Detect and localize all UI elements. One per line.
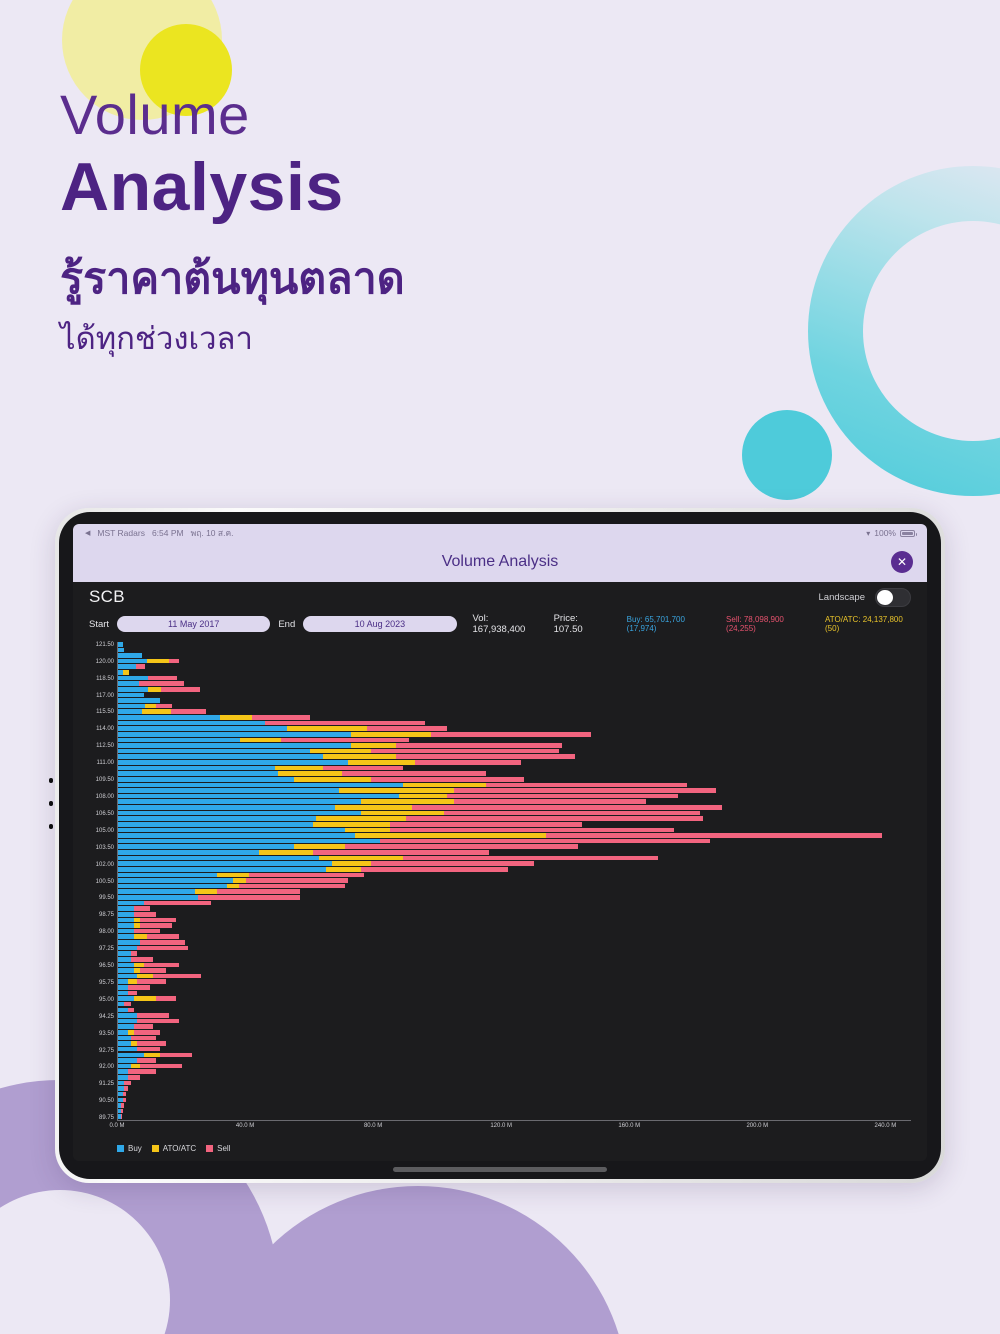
volume-bar-segment-buy (118, 1064, 131, 1069)
volume-bar-segment-sell (137, 1058, 156, 1063)
volume-bar-row (118, 721, 425, 726)
ios-status-bar: ◀ MST Radars 6:54 PM พฤ. 10 ส.ค. ▾ 100% (73, 524, 927, 542)
volume-bar-segment-sell (140, 923, 172, 928)
volume-bar-row (118, 895, 300, 900)
buy-stat: Buy: 65,701,700 (17,974) (627, 615, 709, 633)
volume-bar-segment-ato (361, 799, 454, 804)
volume-bar-row (118, 653, 142, 658)
volume-bar-segment-buy (118, 1036, 131, 1041)
volume-bar-segment-buy (118, 1013, 137, 1018)
chart-legend: BuyATO/ATCSell (73, 1135, 927, 1161)
teal-dot-decoration (742, 410, 832, 500)
volume-bar-segment-buy (118, 878, 233, 883)
volume-bar-row (118, 816, 703, 821)
volume-bar-segment-buy (118, 991, 128, 996)
volume-bar-segment-ato (361, 811, 444, 816)
volume-bar-segment-sell (171, 709, 206, 714)
volume-bar-segment-sell (156, 996, 175, 1001)
y-axis-tick-label: 100.50 (96, 879, 114, 885)
volume-bar-row (118, 777, 524, 782)
volume-bar-segment-ato (131, 1064, 141, 1069)
volume-bar-row (118, 687, 200, 692)
volume-bar-segment-ato (316, 816, 406, 821)
volume-bar-row (118, 918, 176, 923)
volume-bar-segment-sell (121, 1103, 124, 1108)
volume-bar-row (118, 839, 710, 844)
volume-bar-row (118, 698, 160, 703)
volume-bar-segment-ato (403, 783, 486, 788)
volume-bar-segment-sell (137, 946, 188, 951)
x-axis-tick-label: 200.0 M (746, 1123, 768, 1129)
y-axis-tick-label: 89.75 (99, 1115, 114, 1121)
landscape-toggle[interactable] (875, 588, 911, 607)
volume-bar-segment-ato (148, 687, 161, 692)
volume-bar-segment-sell (367, 726, 447, 731)
y-axis-tick-label: 118.50 (96, 676, 114, 682)
volume-bar-row (118, 1013, 169, 1018)
volume-bar-segment-sell (137, 979, 166, 984)
x-axis-tick-label: 160.0 M (618, 1123, 640, 1129)
volume-bar-segment-buy (118, 664, 136, 669)
volume-bar-segment-ato (351, 732, 431, 737)
volume-bar-segment-ato (220, 715, 252, 720)
volume-bar-segment-sell (246, 878, 348, 883)
legend-item: Buy (117, 1144, 142, 1153)
volume-bar-segment-buy (118, 816, 316, 821)
volume-bar-segment-ato (259, 850, 313, 855)
volume-bar-segment-sell (124, 1002, 130, 1007)
volume-bar-row (118, 873, 364, 878)
volume-bar-segment-sell (403, 856, 659, 861)
y-axis-tick-label: 106.50 (96, 811, 114, 817)
volume-bar-row (118, 1092, 126, 1097)
battery-icon (900, 530, 915, 537)
volume-bar-segment-sell (252, 715, 310, 720)
volume-bar-segment-buy (118, 940, 140, 945)
volume-bar-segment-ato (137, 974, 153, 979)
volume-bar-row (118, 991, 137, 996)
volume-bar-row (118, 693, 144, 698)
volume-bar-segment-sell (454, 788, 716, 793)
volume-bar-segment-buy (118, 1024, 134, 1029)
volume-bar-segment-ato (326, 867, 361, 872)
volume-bar-segment-buy (118, 934, 134, 939)
volume-bar-row (118, 867, 508, 872)
volume-bar-row (118, 996, 176, 1001)
chart-y-axis: 121.50120.00118.50117.00115.50114.00112.… (83, 642, 117, 1121)
x-axis-tick-label: 40.0 M (236, 1123, 254, 1129)
headline-line-analysis: Analysis (60, 149, 405, 225)
volume-bar-segment-sell (131, 1036, 157, 1041)
volume-bar-row (118, 884, 345, 889)
y-axis-tick-label: 95.75 (99, 980, 114, 986)
volume-bar-row (118, 738, 409, 743)
legend-label: Sell (217, 1144, 230, 1153)
teal-ring-decoration (808, 166, 1000, 496)
volume-bar-segment-sell (121, 1114, 123, 1119)
legend-swatch-icon (206, 1145, 213, 1152)
device-bezel: ◀ MST Radars 6:54 PM พฤ. 10 ส.ค. ▾ 100% … (59, 512, 941, 1179)
volume-bar-segment-sell (396, 743, 562, 748)
volume-bar-segment-buy (118, 951, 131, 956)
volume-bar-row (118, 1053, 192, 1058)
volume-bar-segment-ato (134, 963, 144, 968)
volume-bar-row (118, 1047, 160, 1052)
legend-item: Sell (206, 1144, 230, 1153)
total-volume-stat: Vol: 167,938,400 (473, 613, 538, 635)
y-axis-tick-label: 114.00 (96, 726, 114, 732)
volume-bar-row (118, 1041, 166, 1046)
y-axis-tick-label: 103.50 (96, 845, 114, 851)
sell-stat: Sell: 78,098,900 (24,255) (726, 615, 808, 633)
volume-bar-segment-sell (124, 1081, 130, 1086)
volume-bar-segment-sell (140, 918, 175, 923)
volume-bar-row (118, 749, 559, 754)
volume-bar-segment-buy (118, 760, 348, 765)
volume-bar-segment-buy (118, 788, 339, 793)
volume-bar-row (118, 1064, 182, 1069)
start-date-input[interactable]: 11 May 2017 (117, 616, 270, 632)
status-date: พฤ. 10 ส.ค. (191, 526, 234, 540)
volume-bar-segment-ato (144, 1053, 160, 1058)
volume-bar-segment-buy (118, 974, 137, 979)
stock-symbol-label: SCB (89, 587, 125, 607)
volume-bar-segment-ato (319, 856, 402, 861)
volume-bar-segment-buy (118, 1041, 131, 1046)
volume-bar-row (118, 799, 646, 804)
volume-bar-row (118, 1008, 134, 1013)
volume-bar-row (118, 1030, 160, 1035)
volume-bar-row (118, 1058, 156, 1063)
y-axis-tick-label: 98.00 (99, 929, 114, 935)
headline-block: Volume Analysis รู้ราคาต้นทุนตลาด ได้ทุก… (60, 86, 405, 359)
volume-bar-segment-sell (137, 1019, 179, 1024)
volume-bar-segment-sell (148, 676, 177, 681)
volume-bar-segment-sell (121, 1109, 123, 1114)
status-time: 6:54 PM (152, 528, 184, 538)
volume-bar-segment-buy (118, 1069, 128, 1074)
volume-bar-segment-sell (431, 732, 591, 737)
volume-bar-segment-buy (118, 687, 148, 692)
end-date-input[interactable]: 10 Aug 2023 (303, 616, 456, 632)
volume-bar-segment-sell (454, 799, 646, 804)
volume-bar-segment-sell (444, 811, 700, 816)
volume-bar-segment-buy (118, 1019, 137, 1024)
volume-bar-segment-ato (233, 878, 246, 883)
volume-bar-segment-sell (380, 839, 709, 844)
volume-bar-segment-buy (118, 749, 310, 754)
volume-bar-row (118, 642, 123, 647)
volume-bar-row (118, 1114, 122, 1119)
volume-bar-segment-ato (294, 844, 345, 849)
volume-bar-segment-buy (118, 968, 134, 973)
volume-bar-segment-sell (406, 816, 703, 821)
device-side-buttons (49, 778, 53, 847)
y-axis-tick-label: 99.50 (99, 895, 114, 901)
volume-bar-segment-sell (390, 828, 675, 833)
modal-title-bar: Volume Analysis ✕ (73, 542, 927, 582)
volume-bar-row (118, 923, 172, 928)
volume-bar-segment-buy (118, 783, 403, 788)
volume-bar-segment-ato (128, 979, 138, 984)
volume-bar-row (118, 743, 562, 748)
chart-plot-area (117, 642, 911, 1121)
volume-bar-segment-sell (134, 929, 160, 934)
volume-bar-segment-buy (118, 704, 145, 709)
y-axis-tick-label: 121.50 (96, 642, 114, 648)
volume-bar-row (118, 783, 687, 788)
volume-bar-row (118, 1109, 123, 1114)
volume-bar-row (118, 968, 166, 973)
page-title: Volume Analysis (442, 553, 559, 571)
volume-bar-segment-sell (137, 1041, 166, 1046)
legend-label: Buy (128, 1144, 142, 1153)
home-indicator[interactable] (393, 1167, 607, 1172)
volume-bar-row (118, 1002, 131, 1007)
volume-bar-segment-buy (118, 957, 131, 962)
volume-bar-segment-sell (313, 850, 489, 855)
volume-bar-segment-sell (123, 1092, 126, 1097)
volume-bar-segment-sell (128, 1075, 141, 1080)
volume-bar-segment-sell (144, 963, 179, 968)
volume-bar-segment-buy (118, 681, 139, 686)
volume-bar-row (118, 1069, 156, 1074)
volume-bar-row (118, 929, 160, 934)
volume-bar-row (118, 912, 156, 917)
volume-bar-segment-sell (134, 1024, 153, 1029)
volume-bar-row (118, 1024, 153, 1029)
volume-bar-segment-sell (415, 760, 521, 765)
volume-bar-row (118, 766, 403, 771)
volume-bar-segment-ato (134, 996, 156, 1001)
volume-bar-row (118, 670, 129, 675)
headline-line-volume: Volume (60, 86, 405, 145)
volume-bar-segment-sell (371, 861, 534, 866)
x-axis-tick-label: 80.0 M (364, 1123, 382, 1129)
volume-bar-segment-buy (118, 867, 326, 872)
volume-bar-segment-sell (361, 867, 508, 872)
y-axis-tick-label: 94.25 (99, 1014, 114, 1020)
volume-bar-row (118, 856, 658, 861)
y-axis-tick-label: 96.50 (99, 963, 114, 969)
volume-bar-segment-ato (310, 749, 371, 754)
purple-circle-decoration (208, 1186, 628, 1334)
volume-bar-segment-sell (140, 968, 166, 973)
volume-bar-segment-buy (118, 884, 227, 889)
volume-bar-segment-buy (118, 861, 332, 866)
x-axis-tick-label: 240.0 M (875, 1123, 897, 1129)
volume-bar-segment-ato (134, 934, 147, 939)
volume-bar-row (118, 811, 700, 816)
volume-bar-segment-buy (118, 777, 294, 782)
volume-bar-row (118, 833, 882, 838)
volume-bar-segment-sell (371, 749, 560, 754)
y-axis-tick-label: 111.00 (97, 760, 114, 766)
volume-bar-row (118, 1081, 131, 1086)
volume-bar-segment-ato (147, 659, 169, 664)
volume-bar-segment-sell (169, 659, 179, 664)
controls-row: Start 11 May 2017 End 10 Aug 2023 Vol: 1… (73, 612, 927, 636)
volume-bar-row (118, 1075, 140, 1080)
volume-bar-row (118, 794, 678, 799)
ato-atc-stat: ATO/ATC: 24,137,800 (50) (825, 615, 911, 633)
volume-bar-segment-buy (118, 738, 240, 743)
y-axis-tick-label: 92.00 (99, 1064, 114, 1070)
volume-bar-segment-buy (118, 676, 148, 681)
volume-bar-segment-ato (240, 738, 282, 743)
volume-bar-segment-buy (118, 1047, 137, 1052)
volume-bar-segment-sell (390, 822, 582, 827)
volume-bar-segment-buy (118, 799, 361, 804)
volume-bar-segment-ato (339, 788, 454, 793)
volume-bar-segment-ato (287, 726, 367, 731)
volume-bar-segment-buy (118, 771, 278, 776)
volume-bar-segment-buy (118, 844, 294, 849)
y-axis-tick-label: 117.00 (96, 693, 114, 699)
volume-bar-segment-sell (134, 906, 150, 911)
volume-bar-segment-buy (118, 1075, 128, 1080)
headline-thai-secondary: ได้ทุกช่วงเวลา (60, 319, 405, 359)
y-axis-tick-label: 93.50 (99, 1031, 114, 1037)
volume-bar-segment-ato (275, 766, 323, 771)
volume-bar-segment-sell (139, 681, 184, 686)
volume-bar-row (118, 844, 578, 849)
x-axis-tick-label: 0.0 M (109, 1123, 124, 1129)
volume-bar-segment-ato (227, 884, 240, 889)
y-axis-tick-label: 112.50 (96, 743, 114, 749)
legend-swatch-icon (152, 1145, 159, 1152)
volume-bar-row (118, 760, 521, 765)
volume-bar-segment-sell (134, 912, 156, 917)
volume-bar-row (118, 861, 534, 866)
volume-bar-segment-ato (351, 743, 396, 748)
volume-bar-segment-buy (118, 873, 217, 878)
x-axis-tick-label: 120.0 M (490, 1123, 512, 1129)
volume-bar-segment-buy (118, 839, 380, 844)
landscape-label: Landscape (819, 592, 865, 603)
volume-bar-segment-sell (345, 844, 578, 849)
volume-bar-segment-sell (144, 901, 211, 906)
volume-bar-segment-buy (118, 1058, 137, 1063)
back-arrow-icon[interactable]: ◀ (85, 529, 90, 537)
volume-bar-segment-buy (118, 698, 160, 703)
volume-bar-segment-ato (278, 771, 342, 776)
volume-bar-segment-buy (118, 985, 128, 990)
volume-bar-segment-ato (332, 861, 370, 866)
headline-thai-primary: รู้ราคาต้นทุนตลาด (60, 253, 405, 307)
volume-bar-segment-sell (396, 754, 575, 759)
volume-bar-segment-buy (118, 912, 134, 917)
volume-bar-segment-buy (118, 811, 361, 816)
volume-bar-segment-buy (118, 642, 123, 647)
close-icon[interactable]: ✕ (891, 551, 913, 573)
volume-bar-row (118, 979, 166, 984)
volume-bar-row (118, 704, 172, 709)
volume-bar-segment-sell (137, 1013, 169, 1018)
volume-bar-segment-buy (118, 929, 134, 934)
volume-bar-row (118, 805, 722, 810)
wifi-icon: ▾ (866, 529, 870, 538)
volume-bar-row (118, 850, 489, 855)
device-screen: ◀ MST Radars 6:54 PM พฤ. 10 ส.ค. ▾ 100% … (73, 524, 927, 1161)
volume-bar-segment-sell (198, 895, 300, 900)
volume-bar-row (118, 957, 153, 962)
volume-bar-segment-buy (118, 743, 351, 748)
volume-bar-segment-sell (131, 951, 137, 956)
volume-bar-segment-sell (412, 805, 722, 810)
volume-bar-row (118, 664, 145, 669)
volume-bar-segment-buy (118, 996, 134, 1001)
volume-bar-row (118, 828, 674, 833)
volume-bar-segment-sell (131, 957, 153, 962)
volume-bar-segment-sell (239, 884, 345, 889)
volume-bar-segment-buy (118, 856, 319, 861)
volume-bar-row (118, 889, 300, 894)
volume-bar-row (118, 726, 447, 731)
y-axis-tick-label: 92.75 (99, 1048, 114, 1054)
volume-bar-segment-buy (118, 693, 144, 698)
symbol-row: SCB Landscape (73, 582, 927, 612)
volume-bar-row (118, 946, 188, 951)
y-axis-tick-label: 90.50 (99, 1098, 114, 1104)
volume-bar-segment-buy (118, 923, 134, 928)
volume-bar-segment-buy (118, 794, 399, 799)
end-date-label: End (278, 619, 295, 630)
volume-bar-segment-sell (371, 777, 524, 782)
legend-item: ATO/ATC (152, 1144, 196, 1153)
y-axis-tick-label: 102.00 (96, 862, 114, 868)
volume-bar-segment-buy (118, 653, 142, 658)
y-axis-tick-label: 109.50 (96, 777, 114, 783)
volume-bar-row (118, 951, 137, 956)
volume-bar-segment-buy (118, 721, 265, 726)
volume-bar-row (118, 715, 310, 720)
volume-bar-row (118, 985, 150, 990)
volume-bar-segment-ato (355, 833, 547, 838)
volume-bar-row (118, 754, 575, 759)
volume-bar-segment-ato (348, 760, 415, 765)
volume-bar-row (118, 648, 124, 653)
volume-bar-segment-sell (249, 873, 364, 878)
volume-bar-row (118, 963, 179, 968)
volume-bar-segment-buy (118, 979, 128, 984)
legend-label: ATO/ATC (163, 1144, 196, 1153)
volume-bar-segment-buy (118, 889, 195, 894)
start-date-label: Start (89, 619, 109, 630)
volume-bar-segment-ato (335, 805, 412, 810)
volume-bar-segment-sell (447, 794, 677, 799)
volume-bar-segment-sell (342, 771, 486, 776)
volume-bar-segment-sell (140, 940, 185, 945)
volume-bar-row (118, 940, 185, 945)
volume-bar-segment-buy (118, 1030, 128, 1035)
volume-bar-segment-sell (160, 1053, 192, 1058)
volume-bar-segment-sell (123, 1098, 126, 1103)
legend-swatch-icon (117, 1145, 124, 1152)
volume-bar-row (118, 676, 177, 681)
volume-bar-segment-buy (118, 1008, 128, 1013)
volume-bar-row (118, 709, 206, 714)
y-axis-tick-label: 120.00 (96, 659, 114, 665)
volume-bar-row (118, 906, 150, 911)
volume-bar-segment-ato (345, 828, 390, 833)
volume-bar-segment-ato (313, 822, 390, 827)
tablet-device: ◀ MST Radars 6:54 PM พฤ. 10 ส.ค. ▾ 100% … (55, 508, 945, 1183)
y-axis-tick-label: 95.00 (99, 997, 114, 1003)
volume-bar-row (118, 788, 716, 793)
volume-bar-segment-sell (281, 738, 409, 743)
volume-bar-segment-sell (128, 991, 138, 996)
